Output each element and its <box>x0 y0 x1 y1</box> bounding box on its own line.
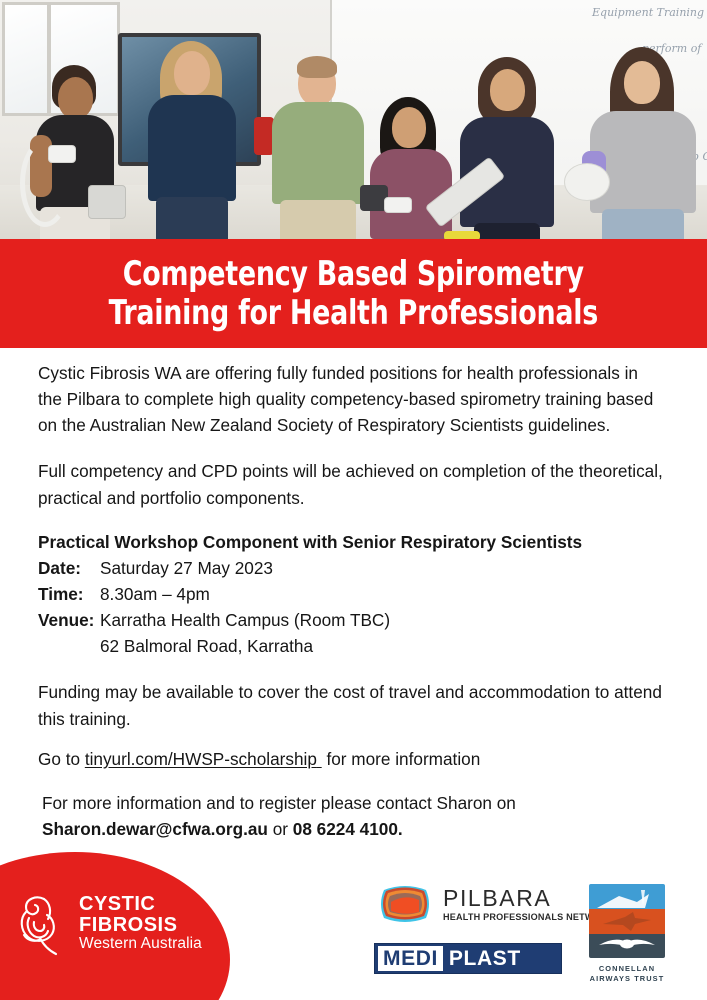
venue-address-line: 62 Balmoral Road, Karratha <box>38 633 663 659</box>
detail-row-time: Time: 8.30am – 4pm <box>38 581 663 607</box>
detail-row-venue: Venue: Karratha Health Campus (Room TBC) <box>38 607 663 633</box>
connellan-line-1: CONNELLAN <box>589 964 665 974</box>
intro-paragraph: Cystic Fibrosis WA are offering fully fu… <box>38 360 663 438</box>
spirometer-hose-1 <box>20 139 70 227</box>
funding-paragraph: Funding may be available to cover the co… <box>38 679 663 731</box>
connellan-line-2: AIRWAYS TRUST <box>589 974 665 984</box>
person-3-hair <box>297 56 337 78</box>
spacer <box>38 438 663 458</box>
cf-line-2: FIBROSIS <box>79 915 202 935</box>
contact-details-line: Sharon.dewar@cfwa.org.au or 08 6224 4100… <box>38 816 663 842</box>
person-6-head <box>624 61 660 104</box>
spirometer-mouthpiece-4 <box>384 197 412 213</box>
main-content: Cystic Fibrosis WA are offering fully fu… <box>38 360 663 842</box>
goto-prefix: Go to <box>38 749 85 769</box>
person-2-torso <box>148 95 236 201</box>
date-value: Saturday 27 May 2023 <box>100 555 663 581</box>
person-3-legs <box>280 200 356 239</box>
contact-email[interactable]: Sharon.dewar@cfwa.org.au <box>42 819 268 839</box>
mediplast-part-2: PLAST <box>443 946 521 971</box>
person-1-head <box>58 77 93 119</box>
spacer <box>38 511 663 529</box>
cf-line-1: CYSTIC <box>79 894 202 914</box>
time-value: 8.30am – 4pm <box>100 581 663 607</box>
spacer <box>38 772 663 790</box>
spirometer-disc-6 <box>564 163 610 201</box>
connellan-motifs <box>589 884 665 958</box>
spacer <box>38 732 663 746</box>
poster-page: Equipment Training perform of Calib Cru <box>0 0 707 1000</box>
title-banner: Competency Based Spirometry Training for… <box>0 239 707 348</box>
person-3-torso <box>272 102 364 204</box>
person-2-head <box>174 51 210 95</box>
whiteboard-note-1: Equipment Training <box>592 6 704 19</box>
goto-line: Go to tinyurl.com/HWSP-scholarship for m… <box>38 746 663 772</box>
venue-value: Karratha Health Campus (Room TBC) <box>100 607 663 633</box>
pilbara-hpn-logo[interactable]: PILBARA HEALTH PROFESSIONALS NETWORK <box>374 880 620 928</box>
page-title: Competency Based Spirometry Training for… <box>61 255 646 331</box>
person-6 <box>572 39 704 239</box>
mediplast-logo[interactable]: MEDI PLAST <box>374 943 562 974</box>
cystic-fibrosis-wa-logo[interactable]: CYSTIC FIBROSIS Western Australia <box>14 890 202 956</box>
connellan-wordmark: CONNELLAN AIRWAYS TRUST <box>589 964 665 984</box>
person-4-head <box>392 107 426 148</box>
time-label: Time: <box>38 581 100 607</box>
person-5 <box>452 39 562 239</box>
header-photo: Equipment Training perform of Calib Cru <box>0 0 707 239</box>
person-3 <box>268 34 366 239</box>
cf-wordmark: CYSTIC FIBROSIS Western Australia <box>79 894 202 952</box>
connellan-airways-trust-logo[interactable]: CONNELLAN AIRWAYS TRUST <box>589 884 665 984</box>
spirometer-block-1 <box>88 185 126 219</box>
spacer <box>38 659 663 679</box>
goto-suffix: for more information <box>322 749 481 769</box>
contact-phone[interactable]: 08 6224 4100. <box>293 819 403 839</box>
competency-paragraph: Full competency and CPD points will be a… <box>38 458 663 510</box>
rose-icon <box>14 890 70 956</box>
cf-line-3: Western Australia <box>79 936 202 952</box>
date-label: Date: <box>38 555 100 581</box>
contact-joiner: or <box>268 819 293 839</box>
person-6-legs <box>602 209 684 239</box>
pilbara-landform-icon <box>374 880 436 928</box>
venue-label: Venue: <box>38 607 100 633</box>
person-5-head <box>490 69 525 111</box>
person-5-legs <box>474 223 540 239</box>
flow-tube-tip <box>444 231 480 239</box>
mediplast-part-1: MEDI <box>378 946 443 971</box>
person-2-legs <box>156 197 228 239</box>
person-1 <box>14 39 124 239</box>
detail-row-date: Date: Saturday 27 May 2023 <box>38 555 663 581</box>
contact-line: For more information and to register ple… <box>38 790 663 816</box>
airplane-wings-icon <box>589 884 665 958</box>
workshop-heading: Practical Workshop Component with Senior… <box>38 529 663 555</box>
scholarship-link[interactable]: tinyurl.com/HWSP-scholarship <box>85 749 317 769</box>
person-2: 2 0 2 1 SPIROMETRY COURSE <box>132 29 250 239</box>
